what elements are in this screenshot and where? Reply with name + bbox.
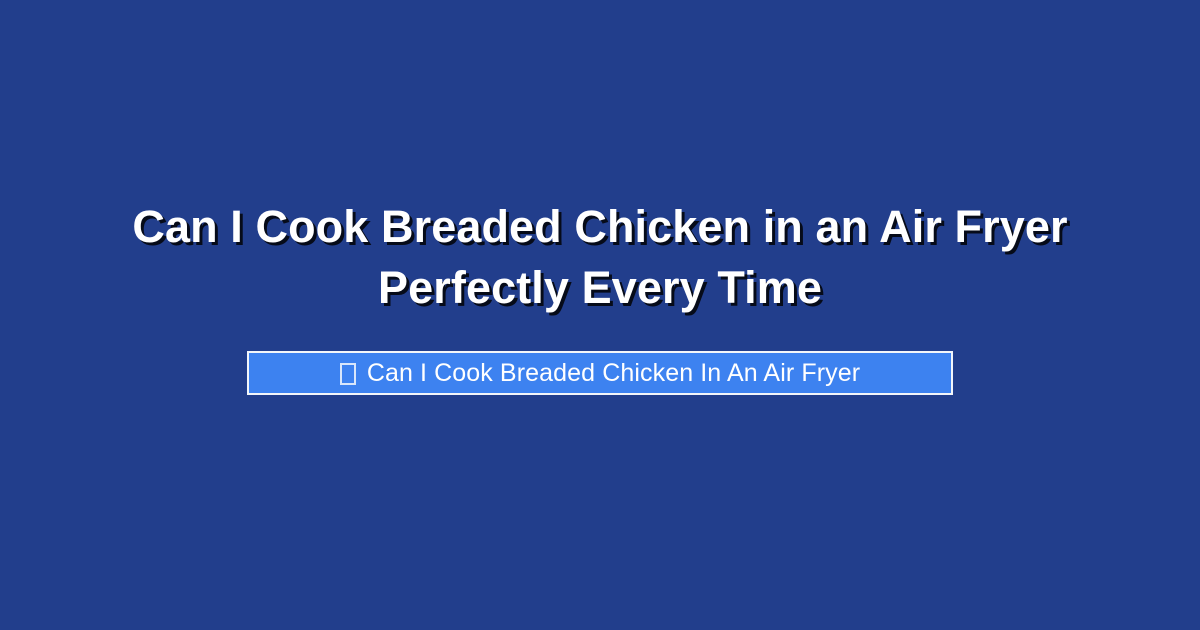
page-title: Can I Cook Breaded Chicken in an Air Fry…	[95, 196, 1105, 318]
missing-glyph-tofu-icon	[340, 363, 356, 385]
topic-badge-button[interactable]: Can I Cook Breaded Chicken In An Air Fry…	[247, 351, 953, 395]
og-image-card: Can I Cook Breaded Chicken in an Air Fry…	[0, 0, 1200, 630]
headline-block: Can I Cook Breaded Chicken in an Air Fry…	[95, 196, 1105, 318]
topic-badge-label: Can I Cook Breaded Chicken In An Air Fry…	[367, 361, 860, 386]
badge-row: Can I Cook Breaded Chicken In An Air Fry…	[0, 351, 1200, 395]
